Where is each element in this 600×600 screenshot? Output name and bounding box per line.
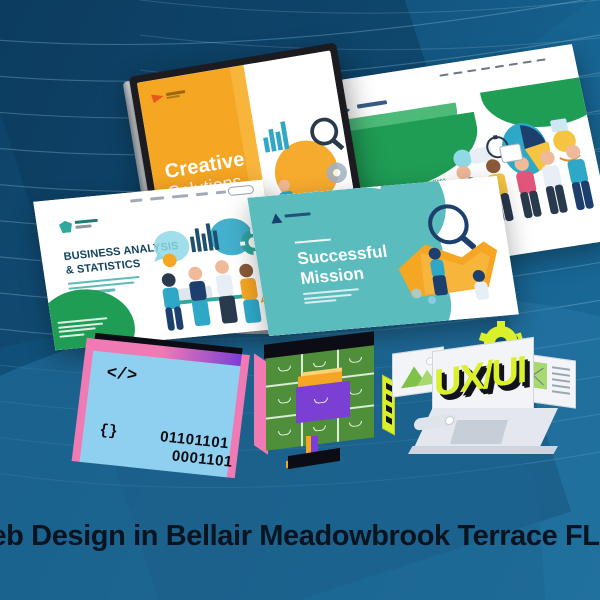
binary-line-1: 01101101	[159, 428, 230, 452]
open-drawer[interactable]	[296, 381, 350, 424]
analytics-logo-icon	[58, 218, 100, 234]
mission-illustration	[379, 190, 513, 319]
successful-mission-card: Successful Mission	[247, 176, 519, 336]
code-brace-glyph: {}	[99, 422, 119, 441]
business-analysis-statistics-card: BUSINESS ANALYSIS & STATISTICS	[33, 180, 284, 350]
filing-cabinet-illustration	[252, 340, 374, 464]
laptop-front-edge	[408, 446, 558, 454]
page-title: Web Design in Bellair Meadowbrook Terrac…	[0, 520, 600, 553]
code-window-illustration: </> {} 01101101 0001101	[80, 351, 241, 478]
ux-ui-laptop-illustration: UX/UI	[388, 328, 574, 470]
hero-banner: Coming to take creative solutions Manage…	[0, 0, 600, 600]
laptop-trackpad	[450, 420, 508, 444]
nav-cta-button[interactable]	[227, 185, 254, 196]
code-tag-glyph: </>	[105, 364, 138, 386]
code-window-screen: </> {} 01101101 0001101	[80, 351, 241, 478]
